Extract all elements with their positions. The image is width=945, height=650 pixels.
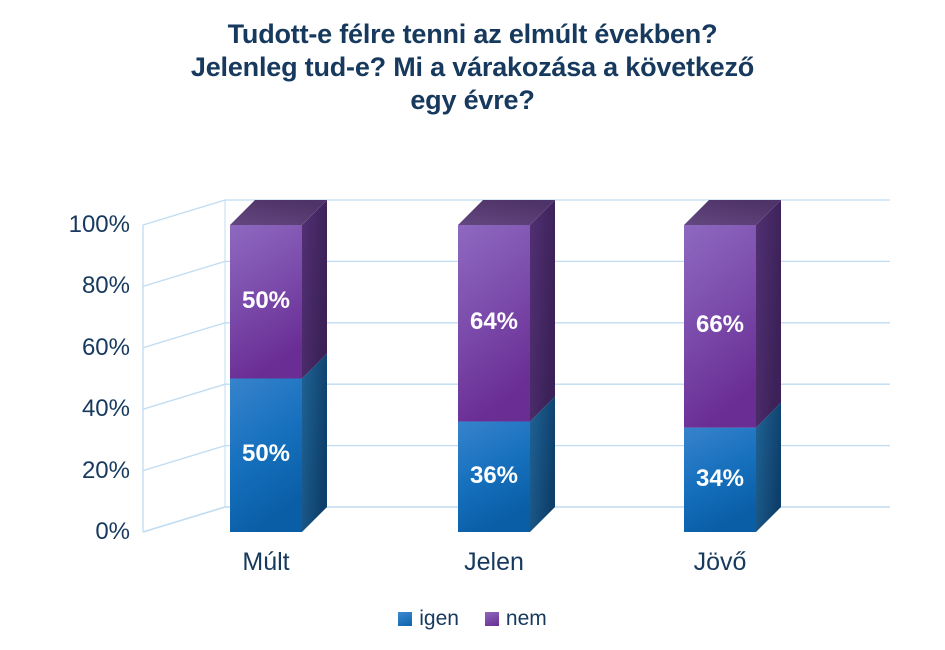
x-tick-Múlt: Múlt	[185, 550, 347, 575]
legend-swatch-nem	[485, 612, 499, 626]
bar-front-face	[684, 428, 756, 532]
bar-side-face	[302, 354, 327, 533]
bar-front-face	[230, 379, 302, 533]
legend-label-igen: igen	[419, 608, 459, 629]
bar-front-face	[458, 225, 530, 421]
y-tick-40%: 40%	[30, 397, 130, 421]
chart-container: Tudott-e félre tenni az elmúlt években? …	[0, 0, 945, 650]
bar-front-face	[458, 421, 530, 532]
bar-Múlt-igen	[230, 354, 327, 533]
bar-side-face	[302, 200, 327, 379]
y-tick-80%: 80%	[30, 274, 130, 298]
chart-legend: igen nem	[0, 608, 945, 629]
y-tick-60%: 60%	[30, 336, 130, 360]
legend-swatch-igen	[398, 612, 412, 626]
bar-side-face	[756, 200, 781, 428]
legend-label-nem: nem	[506, 608, 547, 629]
bars-layer	[230, 200, 781, 532]
bar-Jövő-nem	[684, 200, 781, 428]
bar-side-face	[530, 200, 555, 421]
y-tick-100%: 100%	[30, 213, 130, 237]
x-tick-Jövő: Jövő	[639, 550, 801, 575]
y-axis-tick-labels: 0%20%40%60%80%100%	[8, 0, 130, 650]
legend-item-nem[interactable]: nem	[485, 608, 547, 629]
bar-front-face	[684, 225, 756, 428]
bar-front-face	[230, 225, 302, 379]
legend-item-igen[interactable]: igen	[398, 608, 459, 629]
y-tick-20%: 20%	[30, 459, 130, 483]
bar-Jelen-nem	[458, 200, 555, 421]
y-tick-0%: 0%	[30, 520, 130, 544]
bar-Múlt-nem	[230, 200, 327, 379]
x-tick-Jelen: Jelen	[413, 550, 575, 575]
